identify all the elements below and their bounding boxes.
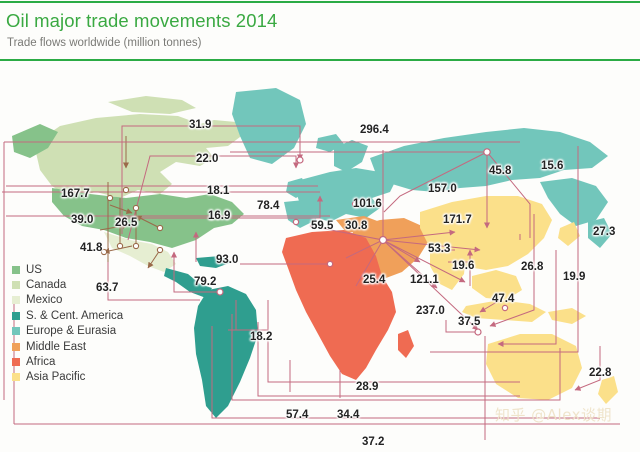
flow-value: 25.4	[363, 275, 385, 287]
flow-value: 34.4	[337, 410, 359, 422]
flow-value: 22.0	[196, 154, 218, 166]
flow-value: 167.7	[61, 189, 90, 201]
flow-value: 93.0	[216, 255, 238, 267]
flow-value: 101.6	[353, 199, 382, 211]
flow-endpoints	[217, 149, 508, 335]
legend-item: US	[12, 262, 123, 277]
legend-swatch-icon	[12, 373, 20, 381]
legend-swatch-icon	[12, 343, 20, 351]
infographic-canvas: Oil major trade movements 2014 Trade flo…	[0, 0, 640, 452]
legend-label: Africa	[26, 356, 55, 368]
flow-value: 157.0	[428, 184, 457, 196]
flow-value: 37.2	[362, 437, 384, 449]
legend-label: S. & Cent. America	[26, 310, 123, 322]
flow-value: 39.0	[71, 215, 93, 227]
flow-value: 57.4	[286, 410, 308, 422]
legend-swatch-icon	[12, 296, 20, 304]
flow-value: 19.6	[452, 261, 474, 273]
legend-item: Canada	[12, 277, 123, 292]
flow-value: 30.8	[345, 221, 367, 233]
flow-value: 27.3	[593, 227, 615, 239]
legend-label: Asia Pacific	[26, 371, 85, 383]
flow-value: 121.1	[410, 275, 439, 287]
legend-swatch-icon	[12, 281, 20, 289]
flow-value: 16.9	[208, 211, 230, 223]
watermark: 知乎 @Alex谈期	[495, 404, 612, 425]
legend-item: S. & Cent. America	[12, 308, 123, 323]
flow-value: 237.0	[416, 306, 445, 318]
flow-value: 53.3	[428, 244, 450, 256]
flow-value: 45.8	[489, 166, 511, 178]
legend-label: Europe & Eurasia	[26, 325, 116, 337]
legend-label: Middle East	[26, 341, 86, 353]
flow-value: 19.9	[563, 272, 585, 284]
legend-item: Middle East	[12, 339, 123, 354]
flow-value: 41.8	[80, 243, 102, 255]
flow-value: 26.5	[115, 218, 137, 230]
flow-value: 15.6	[541, 161, 563, 173]
flow-value: 28.9	[356, 382, 378, 394]
flow-value: 18.2	[250, 332, 272, 344]
flow-value: 171.7	[443, 215, 472, 227]
legend-swatch-icon	[12, 358, 20, 366]
map-legend: USCanadaMexicoS. & Cent. AmericaEurope &…	[12, 262, 123, 385]
flow-value: 22.8	[589, 368, 611, 380]
flow-value: 37.5	[458, 317, 480, 329]
flow-value: 79.2	[194, 277, 216, 289]
legend-item: Asia Pacific	[12, 370, 123, 385]
flow-value: 18.1	[207, 186, 229, 198]
legend-item: Europe & Eurasia	[12, 324, 123, 339]
flow-value: 26.8	[521, 262, 543, 274]
legend-swatch-icon	[12, 312, 20, 320]
legend-swatch-icon	[12, 266, 20, 274]
flow-value: 296.4	[360, 125, 389, 137]
flow-value: 31.9	[189, 120, 211, 132]
legend-label: Mexico	[26, 294, 62, 306]
legend-swatch-icon	[12, 327, 20, 335]
legend-label: US	[26, 264, 42, 276]
flow-value: 47.4	[492, 294, 514, 306]
legend-label: Canada	[26, 279, 66, 291]
flow-value: 78.4	[257, 201, 279, 213]
flow-value: 59.5	[311, 221, 333, 233]
legend-item: Mexico	[12, 293, 123, 308]
legend-item: Africa	[12, 354, 123, 369]
